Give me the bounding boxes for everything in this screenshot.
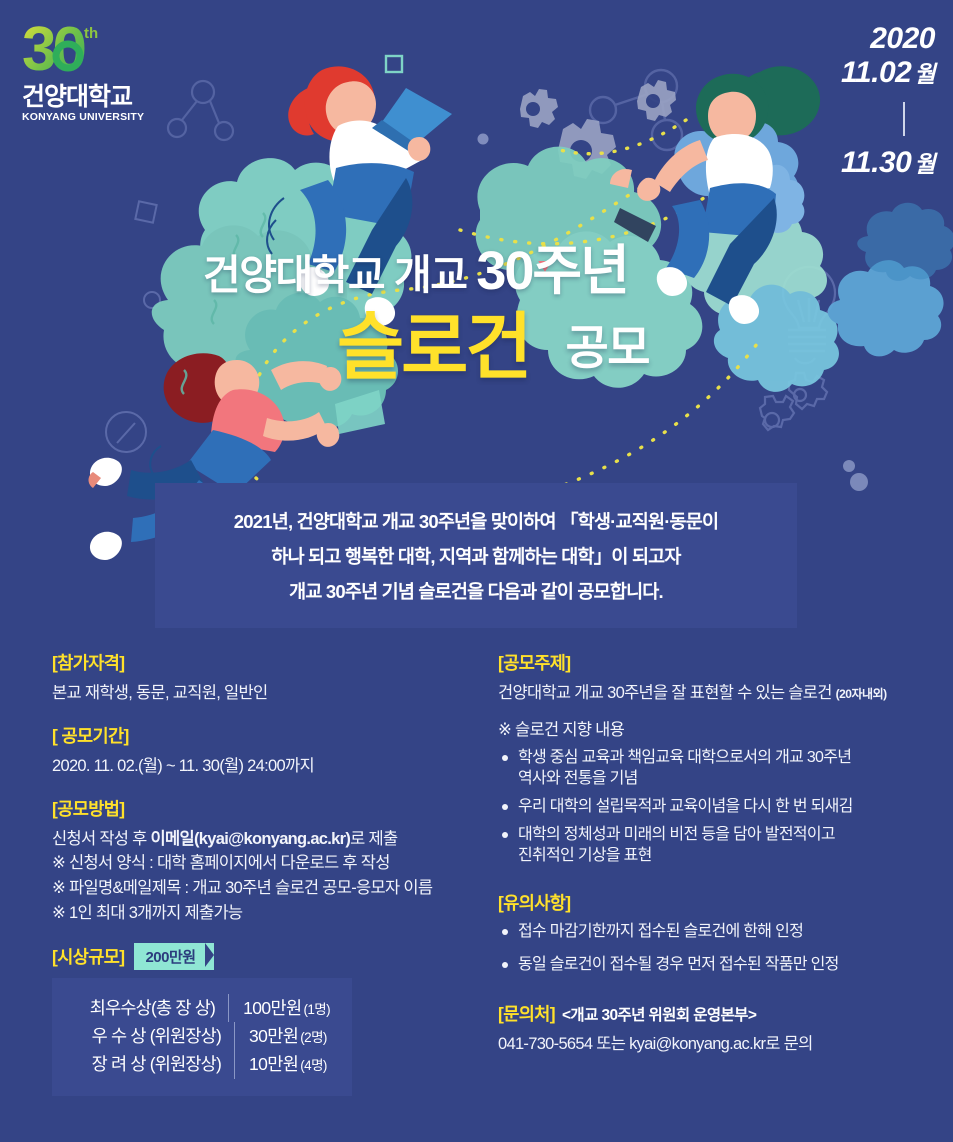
period-heading: [ 공모기간] — [52, 723, 472, 748]
anniversary-mark: 30 th — [22, 18, 132, 82]
method-prefix: 신청서 작성 후 — [52, 830, 151, 848]
prize-row: 최우수상(총 장 상) 100만원(1명) — [74, 994, 330, 1022]
method-email: 이메일(kyai@konyang.ac.kr) — [151, 830, 351, 848]
period-body: 2020. 11. 02.(월) ~ 11. 30(월) 24:00까지 — [52, 754, 472, 779]
intro-line-2: 하나 되고 행복한 대학, 지역과 함께하는 대학」이 되고자 — [271, 543, 680, 569]
eligibility-heading: [참가자격] — [52, 650, 472, 675]
prize-amount: 10만원(4명) — [234, 1050, 327, 1078]
prize-amount: 30만원(2명) — [234, 1022, 327, 1050]
section-method: [공모방법] 신청서 작성 후 이메일(kyai@konyang.ac.kr)로… — [52, 796, 472, 926]
method-line-4: ※ 1인 최대 3개까지 제출가능 — [52, 901, 472, 926]
topic-heading: [공모주제] — [498, 650, 938, 675]
list-item: 접수 마감기한까지 접수된 슬로건에 한해 인정 — [498, 921, 938, 942]
poster-canvas: 30 th 건양대학교 KONYANG UNIVERSITY 2020 11.0… — [0, 0, 953, 1142]
notice-bullet-list: 접수 마감기한까지 접수된 슬로건에 한해 인정 동일 슬로건이 접수될 경우 … — [498, 921, 938, 975]
topic-sub-heading: ※ 슬로건 지향 내용 — [498, 718, 938, 743]
method-line-2: ※ 신청서 양식 : 대학 홈페이지에서 다운로드 후 작성 — [52, 851, 472, 876]
intro-panel: 2021년, 건양대학교 개교 30주년을 맞이하여 「학생·교직원·동문이 하… — [155, 483, 797, 628]
date-year: 2020 — [841, 24, 935, 54]
prize-total-badge: 200만원 — [134, 943, 213, 970]
prize-winner-count: (1명) — [303, 1002, 330, 1017]
dot-decor — [843, 460, 855, 472]
prize-heading: [시상규모] — [52, 944, 124, 969]
prize-winner-count: (4명) — [300, 1058, 327, 1073]
prize-amount-value: 100만원 — [243, 998, 301, 1018]
eligibility-body: 본교 재학생, 동문, 교직원, 일반인 — [52, 681, 472, 706]
list-item: 대학의 정체성과 미래의 비전 등을 담아 발전적이고 진취적인 기상을 표현 — [498, 824, 938, 866]
contest-date-range: 2020 11.02월 11.30월 — [841, 24, 935, 178]
method-suffix: 로 제출 — [350, 830, 397, 848]
prize-name: 장 려 상 (위원장상) — [74, 1050, 234, 1078]
date-start-dow: 월 — [914, 61, 935, 87]
contact-heading: [문의처]<개교 30주년 위원회 운영본부> — [498, 1001, 938, 1026]
dot-decor — [478, 134, 489, 145]
prize-amount-value: 10만원 — [249, 1054, 298, 1074]
section-topic: [공모주제] 건양대학교 개교 30주년을 잘 표현할 수 있는 슬로건 (20… — [498, 650, 938, 866]
details-left-column: [참가자격] 본교 재학생, 동문, 교직원, 일반인 [ 공모기간] 2020… — [52, 650, 472, 1113]
topic-body: 건양대학교 개교 30주년을 잘 표현할 수 있는 슬로건 (20자내외) — [498, 681, 938, 706]
section-eligibility: [참가자격] 본교 재학생, 동문, 교직원, 일반인 — [52, 650, 472, 706]
method-line-3: ※ 파일명&메일제목 : 개교 30주년 슬로건 공모-응모자 이름 — [52, 876, 472, 901]
prize-table: 최우수상(총 장 상) 100만원(1명) 우 수 상 (위원장상) 30만원(… — [52, 978, 352, 1096]
university-name-ko: 건양대학교 — [22, 84, 142, 110]
date-separator — [903, 102, 905, 136]
prize-winner-count: (2명) — [300, 1030, 327, 1045]
method-heading: [공모방법] — [52, 796, 472, 821]
contact-body: 041-730-5654 또는 kyai@konyang.ac.kr로 문의 — [498, 1032, 938, 1057]
dot-decor — [850, 473, 868, 491]
prize-name: 최우수상(총 장 상) — [74, 994, 228, 1022]
contact-heading-label: [문의처] — [498, 1004, 555, 1024]
contact-office: <개교 30주년 위원회 운영본부> — [562, 1007, 756, 1024]
list-item: 우리 대학의 설립목적과 교육이념을 다시 한 번 되새김 — [498, 796, 938, 817]
prize-amount: 100만원(1명) — [228, 994, 330, 1022]
intro-line-1: 2021년, 건양대학교 개교 30주년을 맞이하여 「학생·교직원·동문이 — [234, 508, 718, 534]
details-right-column: [공모주제] 건양대학교 개교 30주년을 잘 표현할 수 있는 슬로건 (20… — [498, 650, 938, 1074]
date-end: 11.30월 — [841, 148, 935, 178]
section-prize: [시상규모] 200만원 최우수상(총 장 상) 100만원(1명) 우 수 상… — [52, 943, 472, 1096]
section-contact: [문의처]<개교 30주년 위원회 운영본부> 041-730-5654 또는 … — [498, 1001, 938, 1057]
date-start-value: 11.02 — [841, 56, 911, 89]
intro-line-3: 개교 30주년 기념 슬로건을 다음과 같이 공모합니다. — [289, 578, 663, 604]
date-end-value: 11.30 — [841, 146, 911, 179]
prize-heading-row: [시상규모] 200만원 — [52, 943, 472, 970]
list-item: 학생 중심 교육과 책임교육 대학으로서의 개교 30주년 역사와 전통을 기념 — [498, 747, 938, 789]
prize-name: 우 수 상 (위원장상) — [74, 1022, 234, 1050]
prize-row: 장 려 상 (위원장상) 10만원(4명) — [74, 1050, 330, 1078]
topic-body-text: 건양대학교 개교 30주년을 잘 표현할 수 있는 슬로건 — [498, 684, 836, 702]
topic-body-note: (20자내외) — [836, 687, 887, 701]
section-period: [ 공모기간] 2020. 11. 02.(월) ~ 11. 30(월) 24:… — [52, 723, 472, 779]
date-start: 11.02월 — [841, 58, 935, 88]
svg-text:th: th — [84, 25, 98, 42]
university-logo: 30 th 건양대학교 KONYANG UNIVERSITY — [22, 18, 142, 123]
headline-line-2: 슬로건공모 — [337, 288, 649, 394]
prize-row: 우 수 상 (위원장상) 30만원(2명) — [74, 1022, 330, 1050]
headline-slogan-word: 슬로건 — [337, 307, 529, 388]
topic-bullet-list: 학생 중심 교육과 책임교육 대학으로서의 개교 30주년 역사와 전통을 기념… — [498, 747, 938, 867]
date-end-dow: 월 — [914, 151, 935, 177]
method-line-1: 신청서 작성 후 이메일(kyai@konyang.ac.kr)로 제출 — [52, 827, 472, 852]
headline-contest-word: 공모 — [565, 321, 648, 374]
notice-heading: [유의사항] — [498, 890, 938, 915]
university-name-en: KONYANG UNIVERSITY — [22, 111, 142, 123]
prize-amount-value: 30만원 — [249, 1026, 298, 1046]
section-notice: [유의사항] 접수 마감기한까지 접수된 슬로건에 한해 인정 동일 슬로건이 … — [498, 890, 938, 975]
list-item: 동일 슬로건이 접수될 경우 먼저 접수된 작품만 인정 — [498, 954, 938, 975]
